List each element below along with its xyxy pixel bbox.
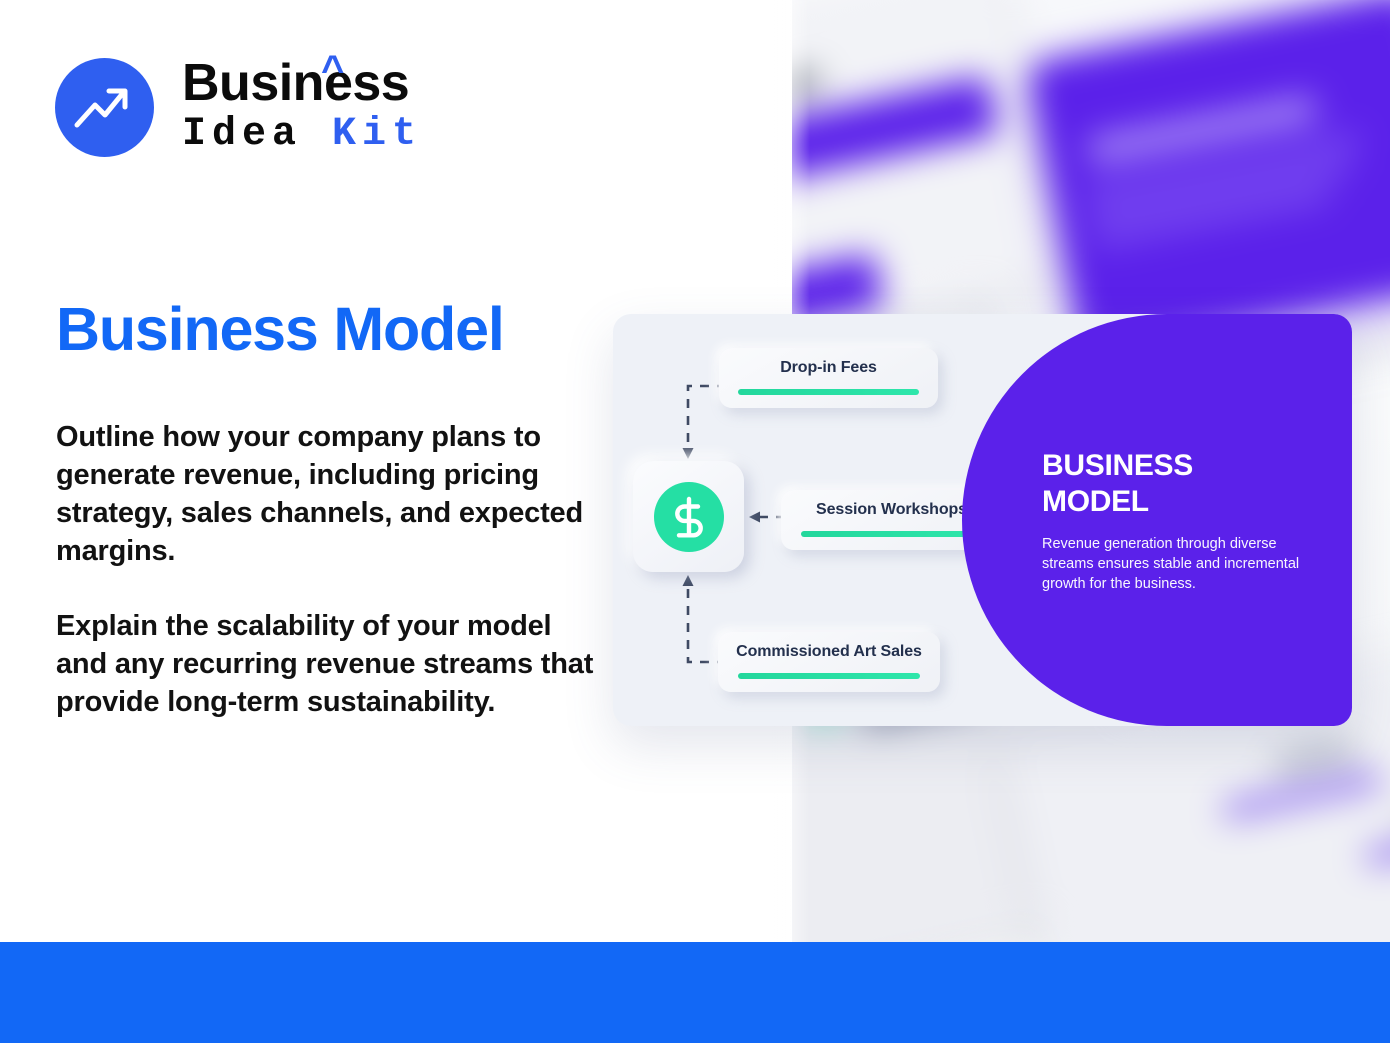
node-accent-bar [801,531,982,537]
revenue-node-commissioned-art-sales[interactable]: Commissioned Art Sales [718,632,940,692]
brand-name-line2: Idea Kit [182,112,422,158]
card-panel-description: Revenue generation through diverse strea… [1042,534,1302,594]
node-label: Drop-in Fees [719,359,938,377]
brand-name-idea: Idea [182,112,302,157]
node-accent-bar [738,673,920,679]
circumflex-accent-icon: ^ [321,50,344,90]
brand-name-text: Business [182,54,409,112]
bg-slide-purple [1025,0,1390,357]
body-paragraph-1: Outline how your company plans to genera… [56,418,586,570]
revenue-node-drop-in-fees[interactable]: Drop-in Fees [719,348,938,408]
slide-page: Business ^ Idea Kit Business Model Outli… [0,0,1390,1043]
dollar-sign-icon [654,482,724,552]
footer-bar [0,942,1390,1043]
trending-up-arrow-icon [55,58,154,157]
node-label: Commissioned Art Sales [718,643,940,661]
page-title: Business Model [56,294,504,364]
card-purple-panel: BUSINESS MODEL Revenue generation throug… [962,314,1352,726]
business-model-card: Drop-in Fees Session Workshops Commissio… [613,314,1352,726]
revenue-hub [633,461,744,572]
body-paragraph-2: Explain the scalability of your model an… [56,607,596,721]
brand-name-kit: Kit [332,112,422,157]
card-panel-title: BUSINESS MODEL [1042,448,1302,520]
brand-logo: Business ^ Idea Kit [55,56,422,158]
node-accent-bar [738,389,919,395]
brand-name-line1: Business ^ [182,56,422,110]
